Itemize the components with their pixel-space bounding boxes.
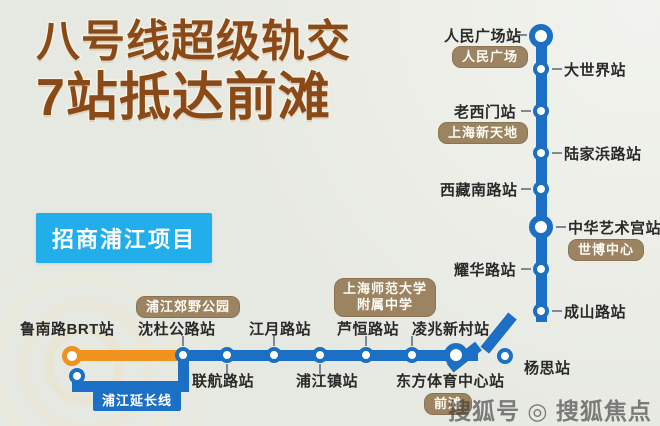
station-tag-xintiandi: 上海新天地 [438,122,528,144]
station-dot-zhonghuayishugong[interactable] [529,215,553,239]
station-dot-lianhang[interactable] [219,347,235,363]
station-label-dashijie: 大世界站 [564,59,626,80]
station-dot-pujiangzhen[interactable] [312,347,328,363]
metro-map-poster: 八号线超级轨交 7站抵达前滩 招商浦江项目 人民广场站 [0,0,660,426]
station-dot-dashijie[interactable] [533,61,549,77]
station-dot-lunanlu-brt[interactable] [62,346,82,366]
station-tag-shishida-line2: 附属中学 [357,297,413,312]
station-label-lujiabang: 陆家浜路站 [564,143,642,164]
station-dot-jiangyue[interactable] [266,347,282,363]
station-tag-renmin-guangchang: 人民广场 [452,46,528,68]
station-dot-laoximen[interactable] [533,103,549,119]
station-label-yaohua: 耀华路站 [448,259,516,280]
station-tag-jiaoye-park: 浦江郊野公园 [136,296,240,318]
branch-line-label: 浦江延长线 [93,388,181,411]
watermark: 搜狐号 ◎ 搜狐焦点 - 哈关站 [448,392,660,426]
station-label-yangsi: 杨思站 [524,357,571,378]
station-label-renmin-guangchang: 人民广场站 [444,25,516,46]
leader-tick-zhonghua [556,226,566,228]
station-label-lianhang: 联航路站 [192,370,254,391]
station-label-xizangnan: 西藏南路站 [440,179,516,200]
leader-tick-xizangnan [521,188,531,190]
station-dot-dongfangtiyu[interactable] [444,343,468,367]
station-label-luheng: 芦恒路站 [337,318,399,339]
station-label-jiangyue: 江月路站 [249,318,311,339]
headline-line-1: 八号线超级轨交 [36,18,351,66]
station-dot-lingzhao[interactable] [404,347,420,363]
station-label-laoximen: 老西门站 [448,101,516,122]
station-dot-yangsi[interactable] [497,348,513,364]
station-tag-shishida-line1: 上海师范大学 [343,281,427,296]
project-badge[interactable]: 招商浦江项目 [36,213,212,263]
leader-tick-yaohua [521,268,531,270]
station-dot-lujiabang[interactable] [533,145,549,161]
station-dot-branch-terminus[interactable] [69,368,85,384]
station-dot-luheng[interactable] [358,347,374,363]
station-dot-xizangnan[interactable] [533,181,549,197]
leader-tick-laoximen [521,110,531,112]
station-label-shendu: 沈杜公路站 [138,318,216,339]
station-dot-shendu[interactable] [175,347,191,363]
station-tag-shibo: 世博中心 [568,239,644,261]
headline-line-2: 7站抵达前滩 [36,70,351,126]
leader-tick-chengshan [552,310,562,312]
station-tag-shishida: 上海师范大学 附属中学 [334,278,436,317]
station-label-pujiangzhen: 浦江镇站 [296,370,358,391]
station-dot-chengshan[interactable] [533,303,549,319]
station-label-chengshan: 成山路站 [564,301,626,322]
station-label-lingzhao: 凌兆新村站 [412,318,490,339]
station-label-zhonghuayishugong: 中华艺术宫站 [568,217,660,238]
station-label-lunanlu-brt: 鲁南路BRT站 [20,318,114,339]
leader-tick-lujiabang [552,152,562,154]
station-label-dongfangtiyu: 东方体育中心站 [396,370,505,391]
station-dot-renmin-guangchang[interactable] [529,24,553,48]
headline: 八号线超级轨交 7站抵达前滩 [36,18,351,126]
leader-tick-dashijie [552,68,562,70]
track-orange-brt [72,350,186,361]
station-dot-yaohua[interactable] [533,261,549,277]
